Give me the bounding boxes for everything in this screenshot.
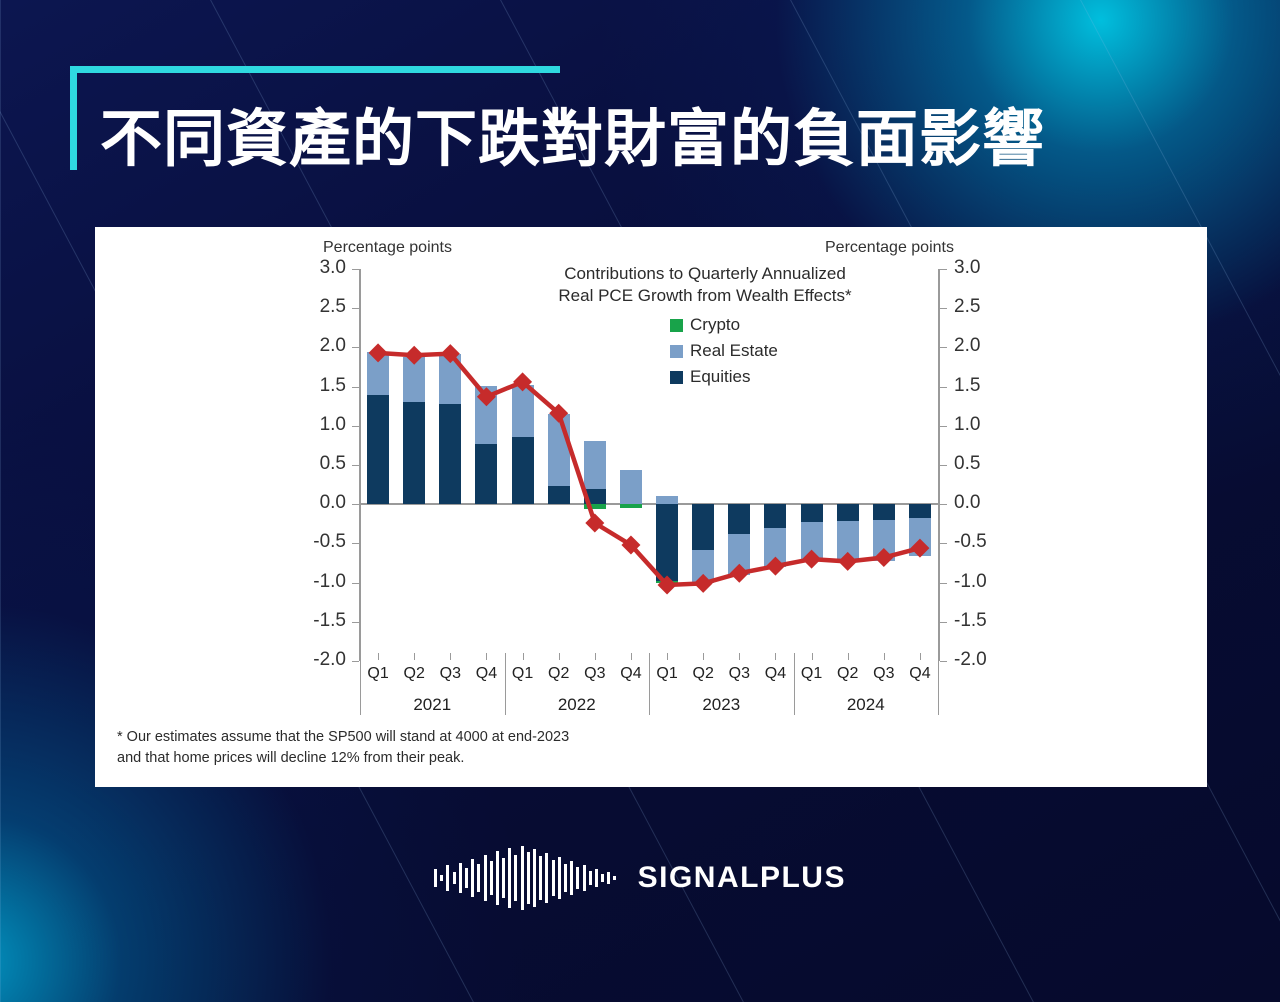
x-axis-group-separator bbox=[505, 653, 506, 715]
waveform-bar bbox=[459, 863, 462, 893]
y-axis-right-label: 1.0 bbox=[954, 414, 1006, 436]
chart-panel: Percentage points Percentage points Cont… bbox=[95, 227, 1207, 787]
y-axis-left-label: 1.0 bbox=[294, 414, 346, 436]
y-axis-tick bbox=[352, 347, 359, 348]
title-accent-left bbox=[70, 66, 77, 170]
y-axis-tick bbox=[940, 347, 947, 348]
waveform-bar bbox=[496, 851, 499, 905]
x-axis-group-separator bbox=[938, 653, 939, 715]
waveform-bar bbox=[446, 865, 449, 891]
x-axis-tick bbox=[703, 653, 704, 660]
x-axis-quarter-label: Q1 bbox=[359, 665, 397, 683]
waveform-bar bbox=[502, 858, 505, 898]
x-axis-tick bbox=[414, 653, 415, 660]
waveform-bar bbox=[607, 872, 610, 884]
x-axis-tick bbox=[450, 653, 451, 660]
y-axis-tick bbox=[352, 622, 359, 623]
total-line-series bbox=[360, 269, 938, 661]
y-axis-left-label: -1.0 bbox=[294, 571, 346, 593]
y-axis-right-label: 3.0 bbox=[954, 257, 1006, 279]
y-axis-tick bbox=[352, 661, 359, 662]
y-axis-left-label: 0.0 bbox=[294, 492, 346, 514]
y-axis-left-label: -2.0 bbox=[294, 649, 346, 671]
x-axis-group-separator bbox=[360, 653, 361, 715]
x-axis: Q1Q2Q3Q4Q1Q2Q3Q4Q1Q2Q3Q4Q1Q2Q3Q420212022… bbox=[360, 659, 938, 727]
y-axis-left-label: 2.5 bbox=[294, 296, 346, 318]
y-axis-tick bbox=[940, 465, 947, 466]
total-line-marker bbox=[766, 557, 785, 576]
axis-header-right: Percentage points bbox=[825, 239, 954, 257]
y-axis-right-label: 1.5 bbox=[954, 375, 1006, 397]
x-axis-quarter-label: Q4 bbox=[612, 665, 650, 683]
total-line-marker bbox=[910, 539, 929, 558]
x-axis-group-separator bbox=[794, 653, 795, 715]
y-axis-right-label: 0.5 bbox=[954, 453, 1006, 475]
y-axis-tick bbox=[352, 543, 359, 544]
brand-name: SIGNALPLUS bbox=[638, 861, 846, 895]
x-axis-year-label: 2023 bbox=[676, 695, 766, 715]
x-axis-year-label: 2024 bbox=[821, 695, 911, 715]
x-axis-year-label: 2022 bbox=[532, 695, 622, 715]
waveform-bar bbox=[440, 875, 443, 881]
y-axis-right-label: 2.5 bbox=[954, 296, 1006, 318]
waveform-bar bbox=[558, 857, 561, 899]
x-axis-tick bbox=[812, 653, 813, 660]
waveform-bar bbox=[453, 872, 456, 884]
total-line-marker bbox=[874, 548, 893, 567]
waveform-bar bbox=[552, 860, 555, 896]
x-axis-tick bbox=[884, 653, 885, 660]
waveform-bar bbox=[570, 861, 573, 895]
y-axis-tick bbox=[940, 426, 947, 427]
waveform-bar bbox=[583, 865, 586, 891]
chart-canvas: Percentage points Percentage points Cont… bbox=[95, 227, 1207, 787]
x-axis-tick bbox=[848, 653, 849, 660]
y-axis-left-label: 0.5 bbox=[294, 453, 346, 475]
x-axis-tick bbox=[667, 653, 668, 660]
x-axis-quarter-label: Q4 bbox=[756, 665, 794, 683]
chart-footnote: * Our estimates assume that the SP500 wi… bbox=[117, 727, 569, 769]
waveform-bar bbox=[595, 869, 598, 887]
y-axis-tick bbox=[940, 387, 947, 388]
y-axis-tick bbox=[352, 465, 359, 466]
waveform-bar bbox=[564, 864, 567, 892]
y-axis-tick bbox=[352, 504, 359, 505]
x-axis-tick bbox=[595, 653, 596, 660]
y-axis-tick bbox=[940, 269, 947, 270]
y-axis-left-label: 2.0 bbox=[294, 335, 346, 357]
x-axis-quarter-label: Q4 bbox=[901, 665, 939, 683]
waveform-bar bbox=[539, 856, 542, 900]
y-axis-tick bbox=[352, 269, 359, 270]
x-axis-quarter-label: Q2 bbox=[829, 665, 867, 683]
x-axis-tick bbox=[486, 653, 487, 660]
waveform-bar bbox=[613, 876, 616, 880]
x-axis-tick bbox=[378, 653, 379, 660]
x-axis-quarter-label: Q2 bbox=[540, 665, 578, 683]
y-axis-right-label: -0.5 bbox=[954, 531, 1006, 553]
waveform-bar bbox=[545, 853, 548, 903]
x-axis-tick bbox=[559, 653, 560, 660]
x-axis-quarter-label: Q1 bbox=[504, 665, 542, 683]
waveform-bar bbox=[508, 848, 511, 908]
total-line-marker bbox=[730, 564, 749, 583]
x-axis-quarter-label: Q3 bbox=[865, 665, 903, 683]
x-axis-tick bbox=[523, 653, 524, 660]
footnote-line1: * Our estimates assume that the SP500 wi… bbox=[117, 727, 569, 748]
waveform-bar bbox=[527, 852, 530, 904]
total-line-marker bbox=[369, 343, 388, 362]
axis-header-left: Percentage points bbox=[323, 239, 452, 257]
x-axis-tick bbox=[631, 653, 632, 660]
y-axis-tick bbox=[940, 661, 947, 662]
x-axis-year-label: 2021 bbox=[387, 695, 477, 715]
waveform-bar bbox=[471, 859, 474, 897]
x-axis-tick bbox=[739, 653, 740, 660]
waveform-bar bbox=[521, 846, 524, 910]
page-title: 不同資產的下跌對財富的負面影響 bbox=[100, 88, 1045, 178]
x-axis-quarter-label: Q1 bbox=[793, 665, 831, 683]
total-line-marker bbox=[802, 550, 821, 569]
x-axis-group-separator bbox=[649, 653, 650, 715]
total-line-marker bbox=[405, 346, 424, 365]
y-axis-right-label: -1.5 bbox=[954, 610, 1006, 632]
total-line-marker bbox=[838, 552, 857, 571]
x-axis-quarter-label: Q2 bbox=[684, 665, 722, 683]
y-axis-right-label: 2.0 bbox=[954, 335, 1006, 357]
waveform-bar bbox=[434, 869, 437, 887]
waveform-bar bbox=[477, 864, 480, 892]
x-axis-tick bbox=[920, 653, 921, 660]
x-axis-quarter-label: Q3 bbox=[576, 665, 614, 683]
x-axis-quarter-label: Q3 bbox=[720, 665, 758, 683]
x-axis-tick bbox=[775, 653, 776, 660]
y-axis-tick bbox=[940, 504, 947, 505]
y-axis-tick bbox=[940, 308, 947, 309]
y-axis-right-label: -1.0 bbox=[954, 571, 1006, 593]
waveform-bar bbox=[484, 855, 487, 901]
waveform-bar bbox=[576, 867, 579, 889]
y-axis-tick bbox=[940, 583, 947, 584]
x-axis-quarter-label: Q2 bbox=[395, 665, 433, 683]
waveform-bar bbox=[514, 855, 517, 901]
waveform-bar bbox=[533, 849, 536, 907]
x-axis-quarter-label: Q1 bbox=[648, 665, 686, 683]
waveform-bar bbox=[465, 868, 468, 888]
y-axis-tick bbox=[352, 387, 359, 388]
y-axis-left-label: -1.5 bbox=[294, 610, 346, 632]
footnote-line2: and that home prices will decline 12% fr… bbox=[117, 748, 569, 769]
x-axis-quarter-label: Q3 bbox=[431, 665, 469, 683]
y-axis-left-label: 1.5 bbox=[294, 375, 346, 397]
y-axis-right-label: 0.0 bbox=[954, 492, 1006, 514]
title-accent-top bbox=[70, 66, 560, 73]
waveform-bar bbox=[589, 871, 592, 885]
y-axis-tick bbox=[940, 543, 947, 544]
waveform-bar bbox=[601, 874, 604, 882]
total-line bbox=[378, 353, 920, 585]
y-axis-tick bbox=[352, 308, 359, 309]
y-axis-right-label: -2.0 bbox=[954, 649, 1006, 671]
total-line-marker bbox=[694, 574, 713, 593]
slide-root: 不同資產的下跌對財富的負面影響 Percentage points Percen… bbox=[0, 0, 1280, 1002]
brand-logo: SIGNALPLUS bbox=[0, 845, 1280, 911]
y-axis-tick bbox=[352, 583, 359, 584]
waveform-bar bbox=[490, 861, 493, 895]
waveform-icon bbox=[434, 845, 620, 911]
y-axis-left-label: 3.0 bbox=[294, 257, 346, 279]
y-axis-left-label: -0.5 bbox=[294, 531, 346, 553]
x-axis-quarter-label: Q4 bbox=[467, 665, 505, 683]
y-axis-tick bbox=[352, 426, 359, 427]
y-axis-tick bbox=[940, 622, 947, 623]
